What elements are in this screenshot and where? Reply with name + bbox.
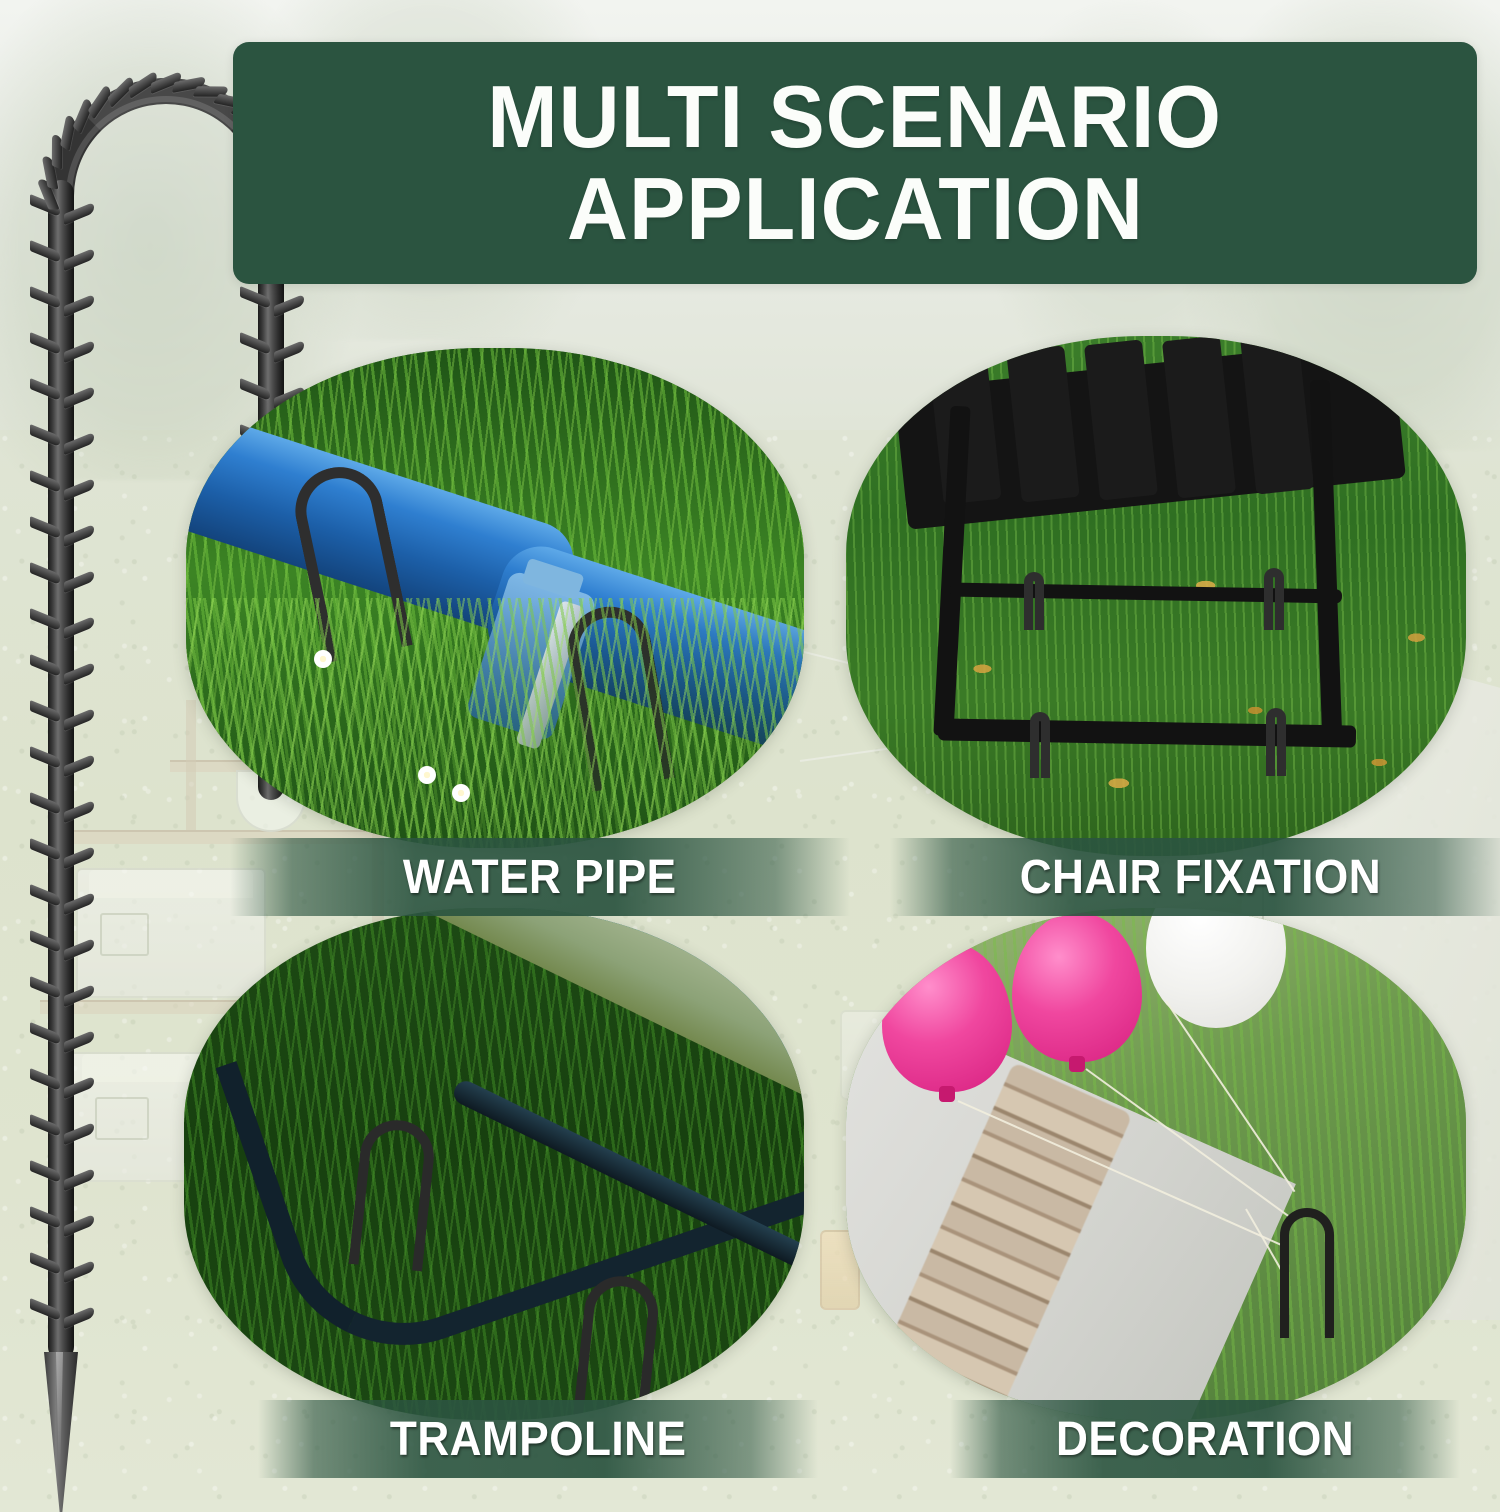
scenario-tile-water-pipe[interactable] xyxy=(186,348,804,848)
grass-foreground xyxy=(186,598,804,848)
decoration-photo xyxy=(846,908,1466,1420)
label-text-decoration: DECORATION xyxy=(1056,1412,1354,1467)
daisy-flower xyxy=(314,650,332,668)
stake-hook-icon xyxy=(1024,572,1044,630)
label-text-water-pipe: WATER PIPE xyxy=(403,850,677,905)
banner-title-line-2: APPLICATION xyxy=(567,163,1144,255)
label-bar-decoration: DECORATION xyxy=(950,1400,1460,1478)
label-bar-water-pipe: WATER PIPE xyxy=(230,838,850,916)
scenario-tile-chair-fixation[interactable] xyxy=(846,336,1466,856)
decoration-scene xyxy=(846,908,1466,1420)
stake-hook-icon xyxy=(1030,712,1050,778)
chair-fixation-scene xyxy=(846,336,1466,856)
banner-title-line-1: MULTI SCENARIO xyxy=(488,71,1223,163)
label-text-trampoline: TRAMPOLINE xyxy=(390,1412,687,1467)
label-bar-trampoline: TRAMPOLINE xyxy=(258,1400,818,1478)
daisy-flower xyxy=(452,784,470,802)
label-bar-chair-fixation: CHAIR FIXATION xyxy=(890,838,1500,916)
label-text-chair-fixation: CHAIR FIXATION xyxy=(1019,850,1380,905)
trampoline-scene xyxy=(184,908,804,1420)
stake-hook-icon xyxy=(1280,1208,1334,1338)
stake-hook-icon xyxy=(1264,568,1284,630)
chair-fixation-photo xyxy=(846,336,1466,856)
daisy-flower xyxy=(418,766,436,784)
trampoline-photo xyxy=(184,908,804,1420)
water-pipe-scene xyxy=(186,348,804,848)
water-pipe-photo xyxy=(186,348,804,848)
stake-hook-icon xyxy=(1266,708,1286,776)
header-banner: MULTI SCENARIO APPLICATION xyxy=(233,42,1477,284)
scenario-tile-trampoline[interactable] xyxy=(184,908,804,1420)
scenario-tile-decoration[interactable] xyxy=(846,908,1466,1420)
